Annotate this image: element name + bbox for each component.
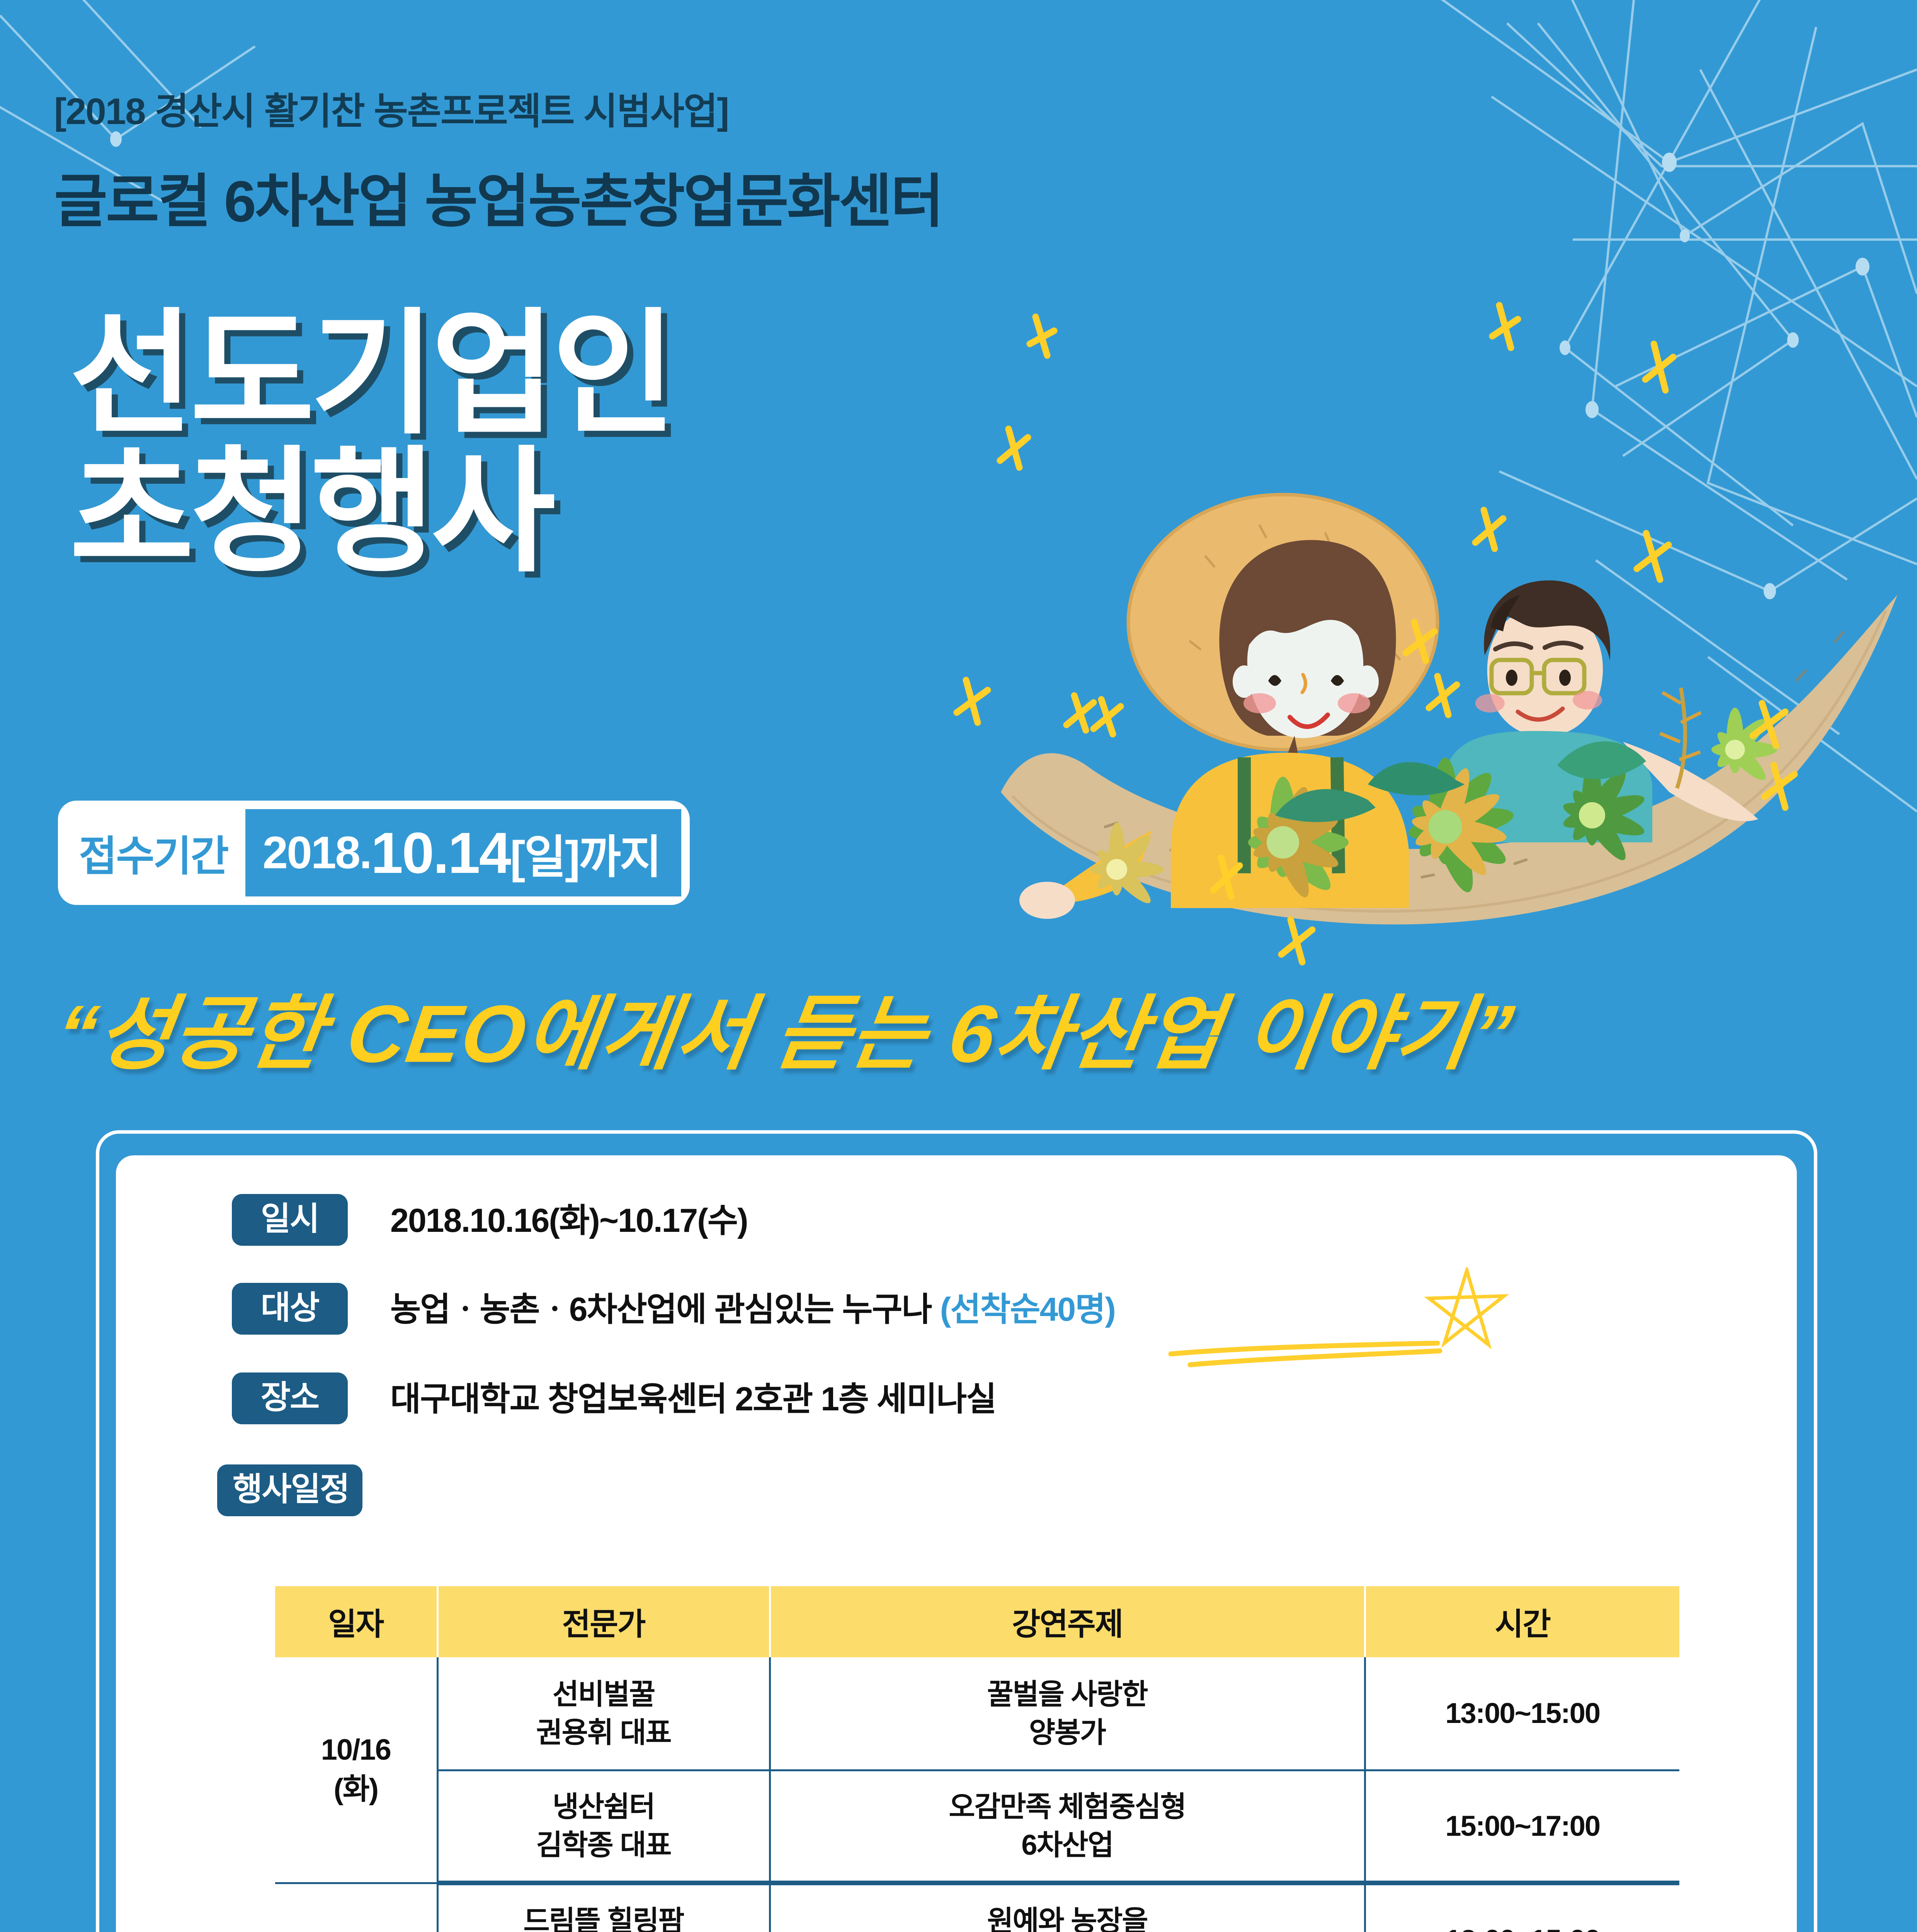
cell-date-1017: 10/17 (수) (275, 1883, 437, 1932)
date-line-1: 10/16 (277, 1730, 434, 1770)
page-title: 선도기업인 초청행사 (70, 305, 672, 581)
deadline-year: 2018. (262, 827, 371, 879)
info-row-venue: 장소 대구대학교 창업보육센터 2호관 1층 세미나실 (232, 1372, 996, 1424)
cell-time: 13:00~15:00 (1365, 1657, 1679, 1770)
registration-deadline-value: 2018.10.14 [일]까지 (245, 809, 681, 896)
topic-line-2: 양봉가 (773, 1713, 1362, 1752)
table-row: 10/17 (수) 드림뜰 힐링팜 송미나 대표 원예와 농장을 활용한 치유농… (275, 1883, 1679, 1932)
value-venue: 대구대학교 창업보육센터 2호관 1층 세미나실 (390, 1372, 996, 1416)
cell-time: 15:00~17:00 (1365, 1770, 1679, 1883)
tagline-quote: “성공한 CEO에게서 듣는 6차산업 이야기” (50, 968, 1767, 1085)
cell-date-1016: 10/16 (화) (275, 1657, 437, 1883)
column-header-date: 일자 (275, 1586, 437, 1657)
registration-period-label: 접수기간 (58, 801, 245, 905)
eyebrow-text: [2018 경산시 활기찬 농촌프로젝트 시범사업] (54, 81, 728, 135)
label-venue: 장소 (232, 1372, 348, 1424)
topic-line-1: 꿀벌을 사랑한 (773, 1675, 1362, 1713)
registration-period-badge: 접수기간 2018.10.14 [일]까지 (58, 801, 690, 905)
info-row-audience: 대상 농업ㆍ농촌ㆍ6차산업에 관심있는 누구나 (선착순40명) (232, 1283, 1115, 1335)
topic-line-2: 6차산업 (773, 1826, 1362, 1864)
info-row-schedule-label: 행사일정 (217, 1464, 362, 1516)
audience-capacity: (선착순40명) (940, 1291, 1115, 1328)
cell-expert: 냉산쉼터 김학종 대표 (437, 1770, 770, 1883)
date-line-2: (화) (277, 1770, 434, 1809)
column-header-time: 시간 (1365, 1586, 1679, 1657)
topic-line-1: 오감만족 체험중심형 (773, 1787, 1362, 1826)
underline-doodle (1167, 1341, 1445, 1368)
deadline-monthday: 10.14 (371, 820, 510, 886)
cell-topic: 꿀벌을 사랑한 양봉가 (770, 1657, 1365, 1770)
expert-person: 권용휘 대표 (441, 1713, 767, 1752)
schedule-table: 일자 전문가 강연주제 시간 10/16 (화) 선비벌꿀 권용휘 대표 꿀벌을… (275, 1586, 1679, 1932)
value-audience: 농업ㆍ농촌ㆍ6차산업에 관심있는 누구나 (선착순40명) (390, 1283, 1115, 1326)
cell-time: 13:00~15:00 (1365, 1883, 1679, 1932)
expert-person: 김학종 대표 (441, 1826, 767, 1864)
farmers-illustration (989, 394, 1917, 966)
cell-topic: 원예와 농장을 활용한 치유농업 (770, 1883, 1365, 1932)
column-header-expert: 전문가 (437, 1586, 770, 1657)
table-row: 10/16 (화) 선비벌꿀 권용휘 대표 꿀벌을 사랑한 양봉가 13:00~… (275, 1657, 1679, 1770)
expert-org: 선비벌꿀 (441, 1675, 767, 1713)
cell-topic: 오감만족 체험중심형 6차산업 (770, 1770, 1365, 1883)
cell-expert: 드림뜰 힐링팜 송미나 대표 (437, 1883, 770, 1932)
info-row-datetime: 일시 2018.10.16(화)~10.17(수) (232, 1194, 748, 1246)
topic-line-1: 원예와 농장을 (773, 1902, 1362, 1932)
label-audience: 대상 (232, 1283, 348, 1335)
deadline-suffix: [일]까지 (510, 820, 660, 886)
expert-org: 냉산쉼터 (441, 1787, 767, 1826)
cell-expert: 선비벌꿀 권용휘 대표 (437, 1657, 770, 1770)
title-line-1: 선도기업인 (70, 305, 672, 443)
column-header-topic: 강연주제 (770, 1586, 1365, 1657)
audience-text: 농업ㆍ농촌ㆍ6차산업에 관심있는 누구나 (390, 1291, 940, 1328)
center-name-subtitle: 글로컬 6차산업 농업농촌창업문화센터 (54, 155, 942, 238)
expert-org: 드림뜰 힐링팜 (441, 1902, 767, 1932)
schedule-header-row: 일자 전문가 강연주제 시간 (275, 1586, 1679, 1657)
label-schedule: 행사일정 (217, 1464, 362, 1516)
value-datetime: 2018.10.16(화)~10.17(수) (390, 1194, 748, 1237)
label-datetime: 일시 (232, 1194, 348, 1246)
poster: [2018 경산시 활기찬 농촌프로젝트 시범사업] 글로컬 6차산업 농업농촌… (0, 0, 1917, 1932)
title-line-2: 초청행사 (70, 443, 672, 581)
table-row: 냉산쉼터 김학종 대표 오감만족 체험중심형 6차산업 15:00~17:00 (275, 1770, 1679, 1883)
